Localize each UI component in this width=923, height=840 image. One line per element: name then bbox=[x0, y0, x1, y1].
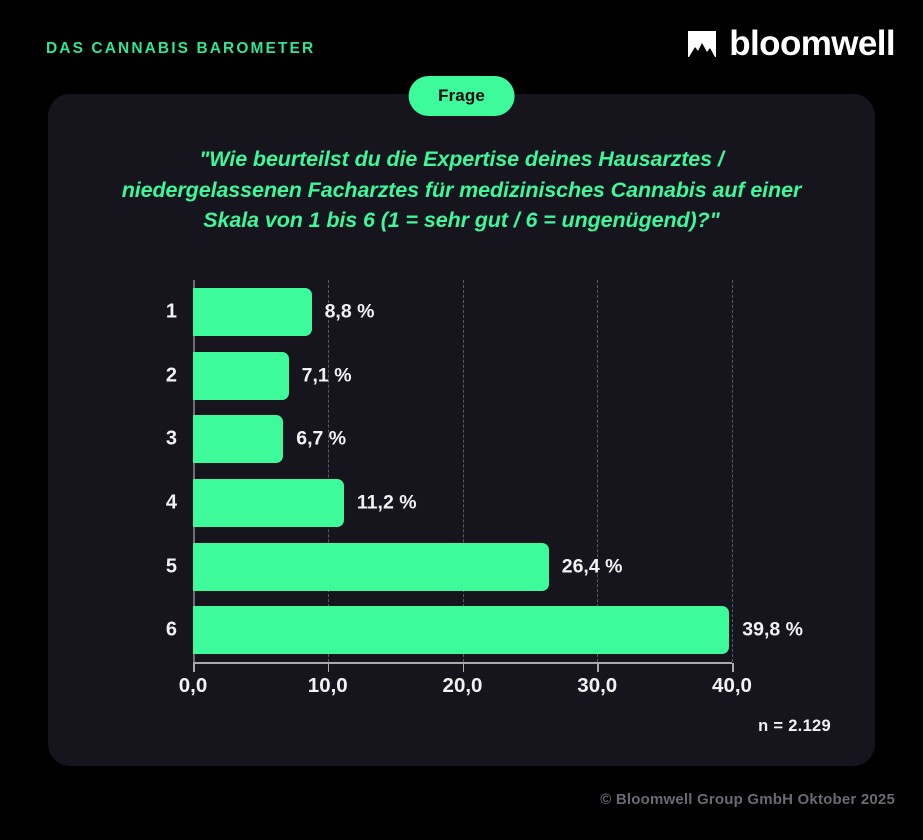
chart-card: Frage "Wie beurteilst du die Expertise d… bbox=[48, 94, 875, 766]
x-axis-tick-mark bbox=[193, 663, 195, 672]
category-label: 4 bbox=[131, 491, 177, 514]
page-header: DAS CANNABIS BAROMETER bloomwell bbox=[0, 0, 923, 86]
x-axis-tick-label: 30,0 bbox=[577, 674, 617, 698]
category-label: 5 bbox=[131, 555, 177, 578]
bar[interactable] bbox=[193, 415, 283, 463]
bar[interactable] bbox=[193, 606, 729, 654]
x-axis-tick-mark bbox=[732, 663, 734, 672]
bar-value-label: 11,2 % bbox=[357, 491, 417, 514]
bar-value-label: 6,7 % bbox=[296, 428, 346, 451]
bar-value-label: 8,8 % bbox=[325, 300, 375, 323]
bar-row[interactable]: 39,8 % bbox=[193, 606, 732, 654]
gridline bbox=[597, 280, 598, 662]
category-label: 1 bbox=[131, 300, 177, 323]
x-axis-tick-mark bbox=[463, 663, 465, 672]
sample-size-note: n = 2.129 bbox=[758, 717, 831, 736]
gridline bbox=[732, 280, 733, 662]
bar-value-label: 39,8 % bbox=[742, 619, 803, 642]
x-axis-tick-label: 40,0 bbox=[712, 674, 752, 698]
bar[interactable] bbox=[193, 479, 344, 527]
x-axis-tick-mark bbox=[328, 663, 330, 672]
bar[interactable] bbox=[193, 352, 289, 400]
page-kicker: DAS CANNABIS BAROMETER bbox=[46, 40, 315, 58]
bar-value-label: 26,4 % bbox=[562, 555, 623, 578]
category-label: 2 bbox=[131, 364, 177, 387]
x-axis-tick-label: 10,0 bbox=[308, 674, 348, 698]
bar-row[interactable]: 26,4 % bbox=[193, 543, 732, 591]
bar[interactable] bbox=[193, 288, 312, 336]
bar-chart-plot: 8,8 %7,1 %6,7 %11,2 %26,4 %39,8 % 123456… bbox=[48, 94, 875, 766]
x-axis-tick-mark bbox=[597, 663, 599, 672]
x-axis-tick-label: 20,0 bbox=[443, 674, 483, 698]
x-axis-tick-label: 0,0 bbox=[179, 674, 208, 698]
y-axis-spine bbox=[193, 280, 195, 662]
gridline bbox=[328, 280, 329, 662]
chart-page: DAS CANNABIS BAROMETER bloomwell Frage "… bbox=[0, 0, 923, 840]
category-label: 3 bbox=[131, 428, 177, 451]
bar-row[interactable]: 6,7 % bbox=[193, 415, 732, 463]
bar-row[interactable]: 8,8 % bbox=[193, 288, 732, 336]
brand-name: bloomwell bbox=[729, 26, 895, 61]
category-label: 6 bbox=[131, 619, 177, 642]
copyright-note: © Bloomwell Group GmbH Oktober 2025 bbox=[600, 791, 895, 808]
brand-logo: bloomwell bbox=[686, 26, 895, 61]
bar-value-label: 7,1 % bbox=[302, 364, 352, 387]
bar-row[interactable]: 11,2 % bbox=[193, 479, 732, 527]
bloomwell-mountain-mark-icon bbox=[686, 28, 718, 60]
bar[interactable] bbox=[193, 543, 549, 591]
gridline bbox=[463, 280, 464, 662]
bar-row[interactable]: 7,1 % bbox=[193, 352, 732, 400]
